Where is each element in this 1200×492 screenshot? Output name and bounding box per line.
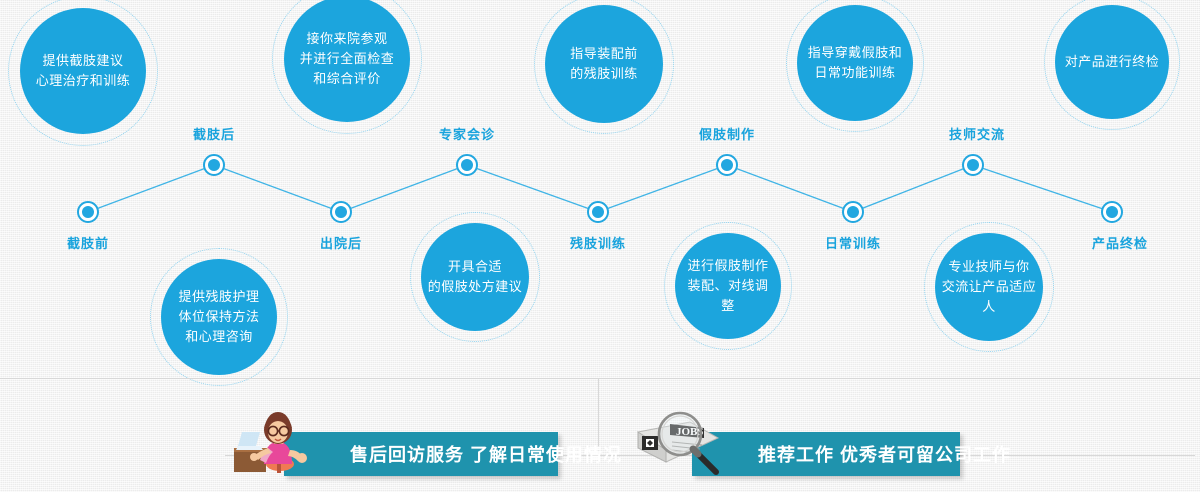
- flow-label-pre-amputation: 截肢前: [67, 233, 109, 252]
- flow-label-expert-consultation: 专家会诊: [439, 124, 495, 143]
- flow-label-post-discharge: 出院后: [320, 233, 362, 252]
- banner-job-recommendation-label: 推荐工作 优秀者可留公司工作: [758, 441, 1011, 467]
- bubble-bottom-3: 进行假肢制作 装配、对线调整: [675, 233, 781, 339]
- bubble-top-3: 指导装配前 的残肢训练: [545, 5, 663, 123]
- service-flow-diagram: 提供截肢建议 心理治疗和训练 接你来院参观 并进行全面检查 和综合评价 指导装配…: [0, 0, 1200, 492]
- flow-label-final-inspection: 产品终检: [1092, 233, 1148, 252]
- flow-node-post-discharge[interactable]: [330, 201, 352, 223]
- flow-node-final-inspection[interactable]: [1101, 201, 1123, 223]
- woman-at-desk-icon: [232, 408, 316, 476]
- bubble-top-5-text: 对产品进行终检: [1059, 52, 1166, 72]
- banner-job-recommendation[interactable]: JOBS 推荐工作 优秀者可留公司工作: [692, 432, 960, 476]
- flow-label-residual-limb-training: 残肢训练: [570, 233, 626, 252]
- bubble-top-3-text: 指导装配前 的残肢训练: [564, 44, 644, 84]
- flow-node-expert-consultation[interactable]: [456, 154, 478, 176]
- bubble-bottom-2: 开具合适 的假肢处方建议: [421, 223, 529, 331]
- bubble-bottom-3-text: 进行假肢制作 装配、对线调整: [675, 256, 781, 316]
- bubble-bottom-1-text: 提供残肢护理 体位保持方法 和心理咨询: [172, 287, 265, 347]
- magnifier-jobs-icon: JOBS: [632, 404, 724, 476]
- banner-after-sales-visit[interactable]: 售后回访服务 了解日常使用情况: [284, 432, 558, 476]
- flow-node-pre-amputation[interactable]: [77, 201, 99, 223]
- banner-after-sales-visit-label: 售后回访服务 了解日常使用情况: [350, 441, 622, 467]
- flow-label-daily-training: 日常训练: [825, 233, 881, 252]
- bubble-top-4: 指导穿戴假肢和 日常功能训练: [797, 5, 913, 121]
- flow-node-post-amputation[interactable]: [203, 154, 225, 176]
- bubble-bottom-2-text: 开具合适 的假肢处方建议: [422, 257, 529, 297]
- flow-label-post-amputation: 截肢后: [193, 124, 235, 143]
- bubble-bottom-1: 提供残肢护理 体位保持方法 和心理咨询: [161, 259, 277, 375]
- flow-node-residual-limb-training[interactable]: [587, 201, 609, 223]
- section-divider: [0, 378, 1200, 379]
- bubble-top-1: 提供截肢建议 心理治疗和训练: [20, 8, 146, 134]
- bubble-top-4-text: 指导穿戴假肢和 日常功能训练: [802, 43, 909, 83]
- page-background: 提供截肢建议 心理治疗和训练 接你来院参观 并进行全面检查 和综合评价 指导装配…: [0, 0, 1200, 492]
- bubble-top-2: 接你来院参观 并进行全面检查 和综合评价: [284, 0, 410, 122]
- flow-node-daily-training[interactable]: [842, 201, 864, 223]
- bubble-top-1-text: 提供截肢建议 心理治疗和训练: [30, 51, 137, 91]
- bubble-top-5: 对产品进行终检: [1055, 5, 1169, 119]
- flow-label-technician-exchange: 技师交流: [949, 124, 1005, 143]
- bubble-bottom-4-text: 专业技师与你 交流让产品适应人: [935, 257, 1043, 317]
- flow-node-technician-exchange[interactable]: [962, 154, 984, 176]
- flow-label-prosthesis-making: 假肢制作: [699, 124, 755, 143]
- bubble-bottom-4: 专业技师与你 交流让产品适应人: [935, 233, 1043, 341]
- flow-node-prosthesis-making[interactable]: [716, 154, 738, 176]
- bubble-top-2-text: 接你来院参观 并进行全面检查 和综合评价: [294, 29, 401, 89]
